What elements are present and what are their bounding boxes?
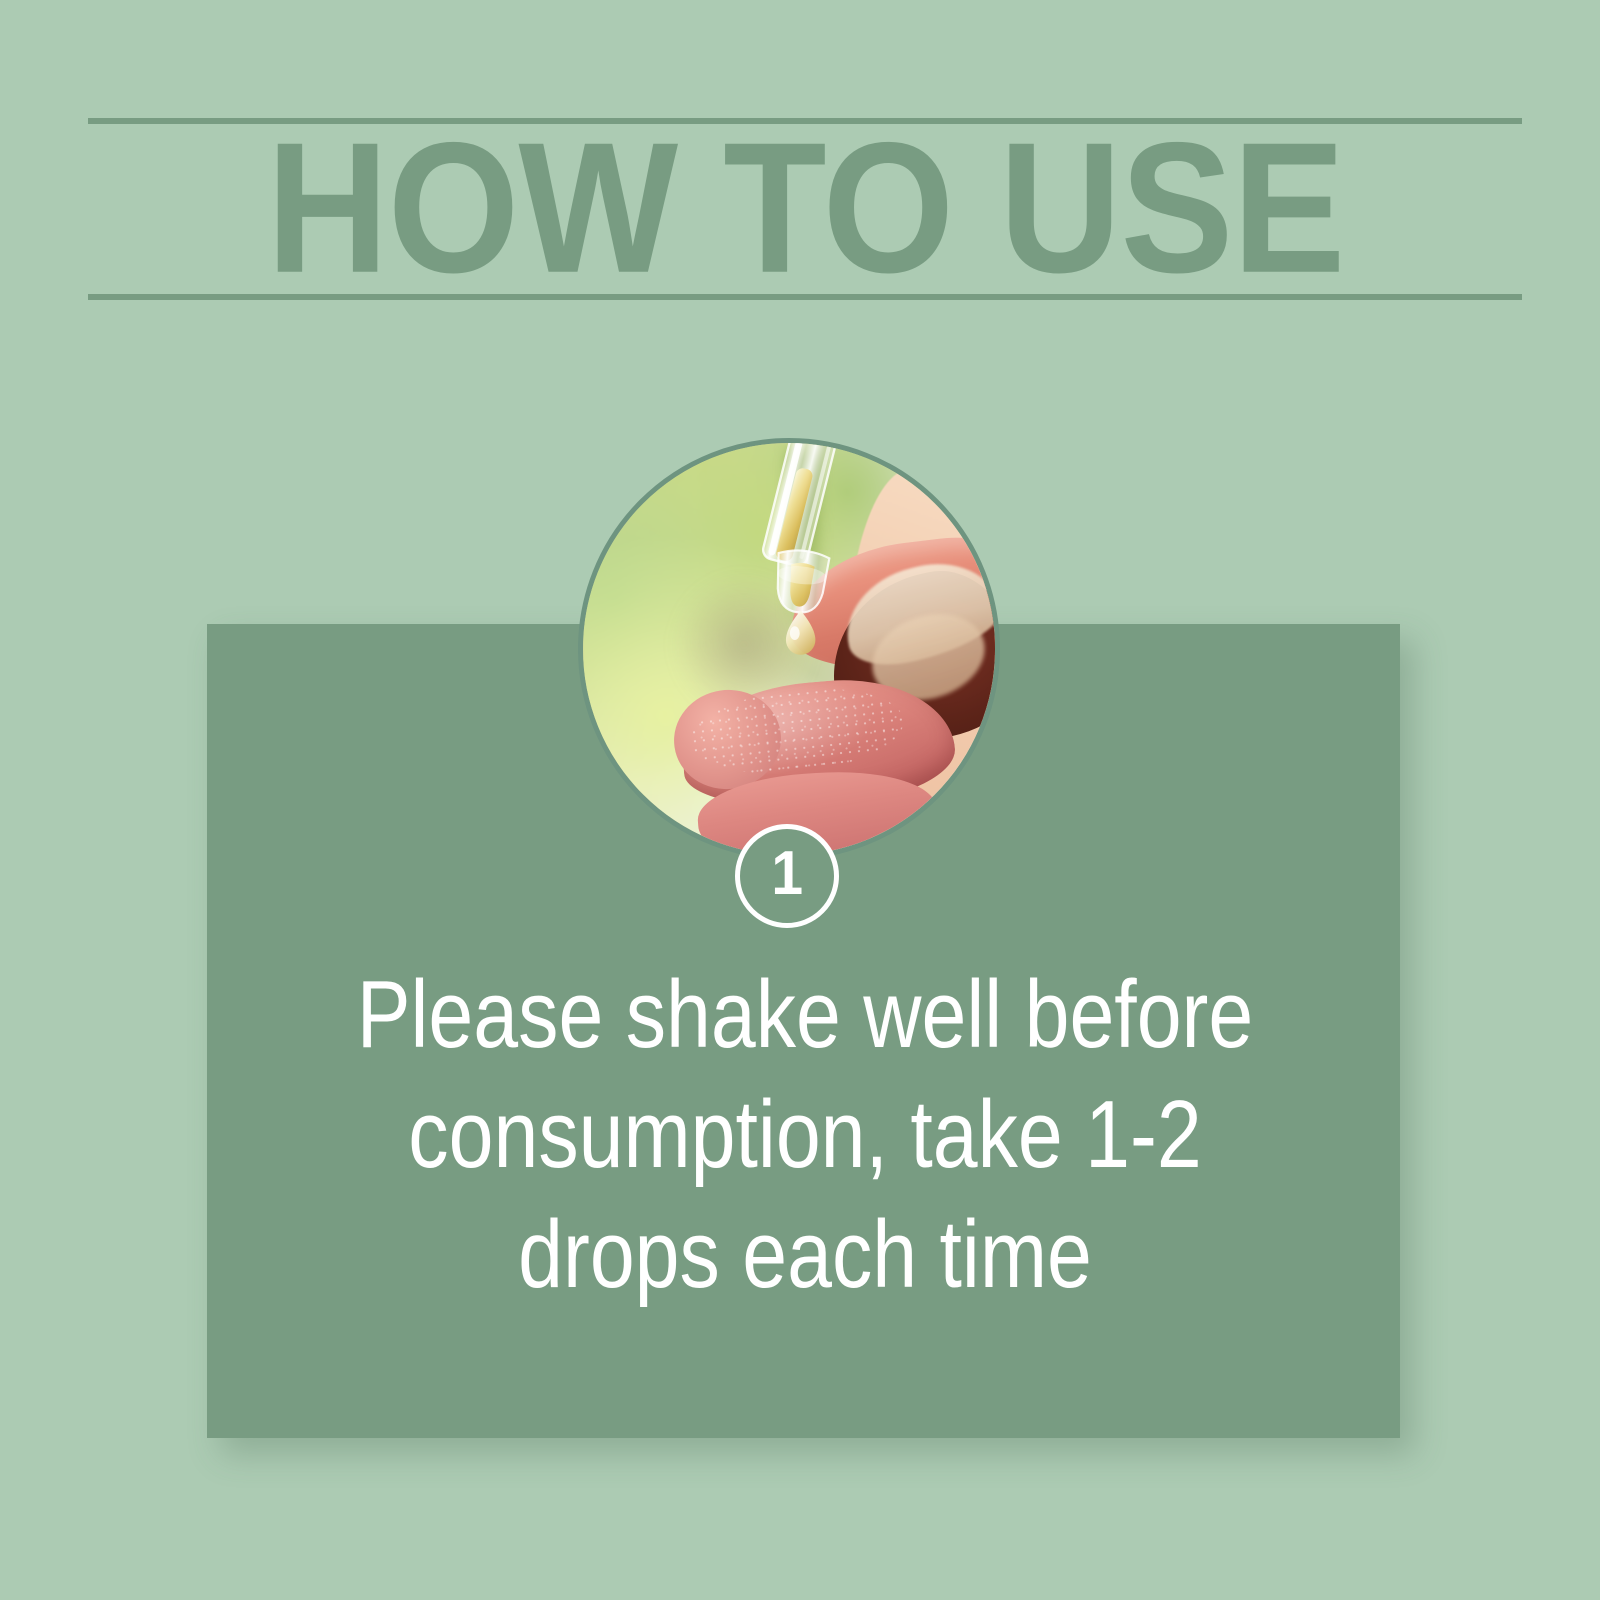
glass-dropper-icon: [690, 438, 888, 674]
step-caption: Please shake well before consumption, ta…: [250, 955, 1360, 1315]
step-caption-text: Please shake well before consumption, ta…: [339, 955, 1271, 1315]
header-divider-bottom: [88, 294, 1522, 300]
page-title: HOW TO USE: [88, 126, 1522, 292]
dropper-over-mouth-photo: [578, 438, 1000, 860]
step-number-badge: 1: [735, 824, 839, 928]
step-number-label: 1: [771, 843, 803, 905]
page-header: HOW TO USE: [88, 118, 1522, 300]
page-title-text: HOW TO USE: [266, 116, 1344, 302]
